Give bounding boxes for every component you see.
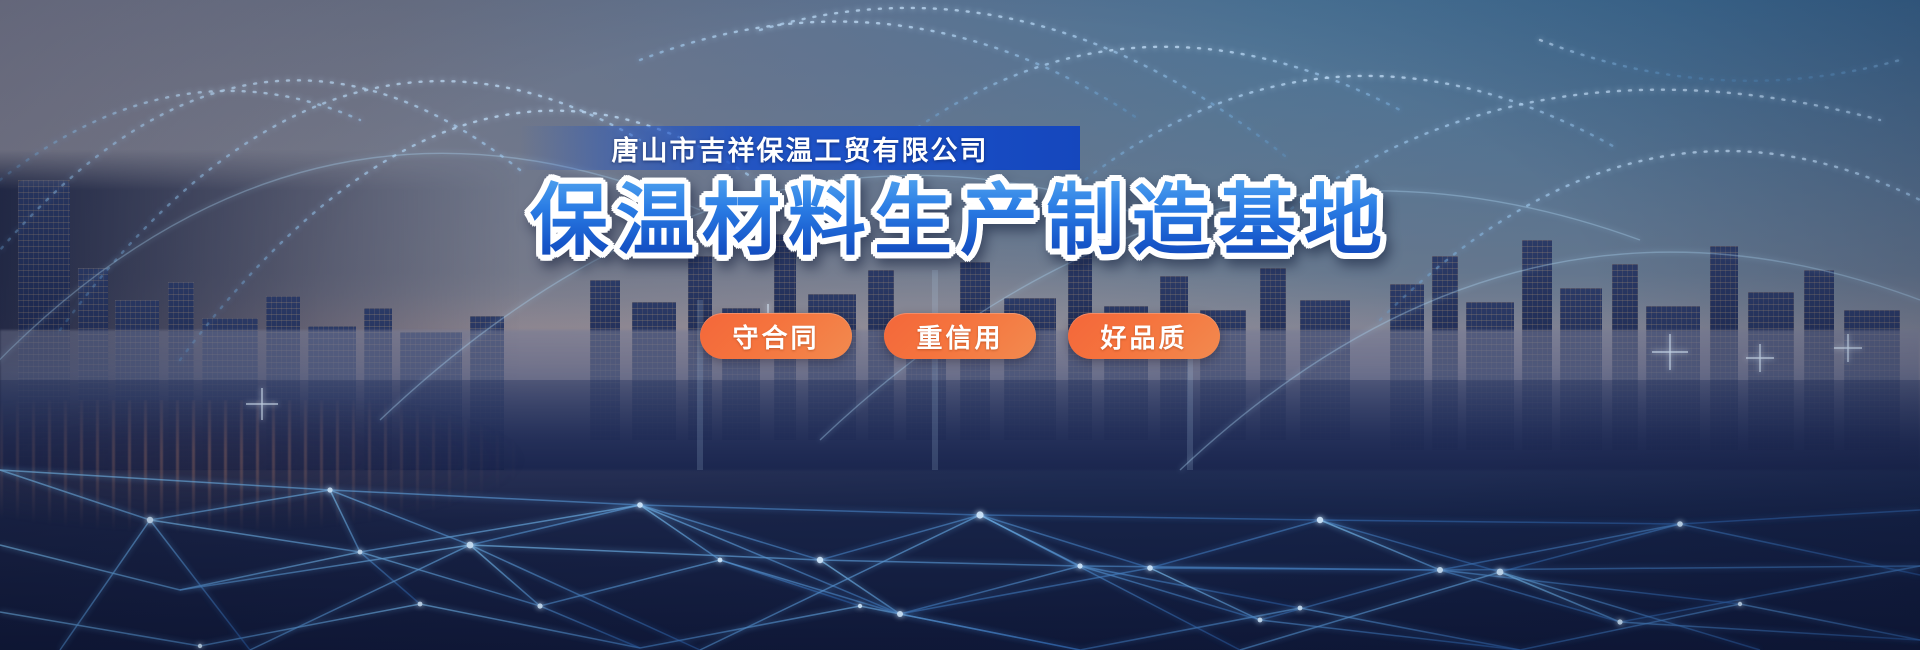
headline-title: 保温材料生产制造基地 [530, 178, 1390, 262]
badge-group: 守合同 重信用 好品质 [0, 313, 1920, 359]
badge-shou-he-tong[interactable]: 守合同 [700, 313, 852, 359]
company-name-bar: 唐山市吉祥保温工贸有限公司 [520, 126, 1080, 170]
badge-label: 好品质 [1100, 318, 1187, 355]
badge-zhong-xin-yong[interactable]: 重信用 [884, 313, 1036, 359]
banner-content: 唐山市吉祥保温工贸有限公司 保温材料生产制造基地 守合同 重信用 好品质 [0, 0, 1920, 650]
badge-label: 重信用 [916, 318, 1003, 355]
headline-wrapper: 保温材料生产制造基地 [0, 178, 1920, 262]
badge-hao-pin-zhi[interactable]: 好品质 [1068, 313, 1220, 359]
company-name: 唐山市吉祥保温工贸有限公司 [612, 129, 989, 168]
hero-banner: 唐山市吉祥保温工贸有限公司 保温材料生产制造基地 守合同 重信用 好品质 [0, 0, 1920, 650]
badge-label: 守合同 [732, 318, 819, 355]
